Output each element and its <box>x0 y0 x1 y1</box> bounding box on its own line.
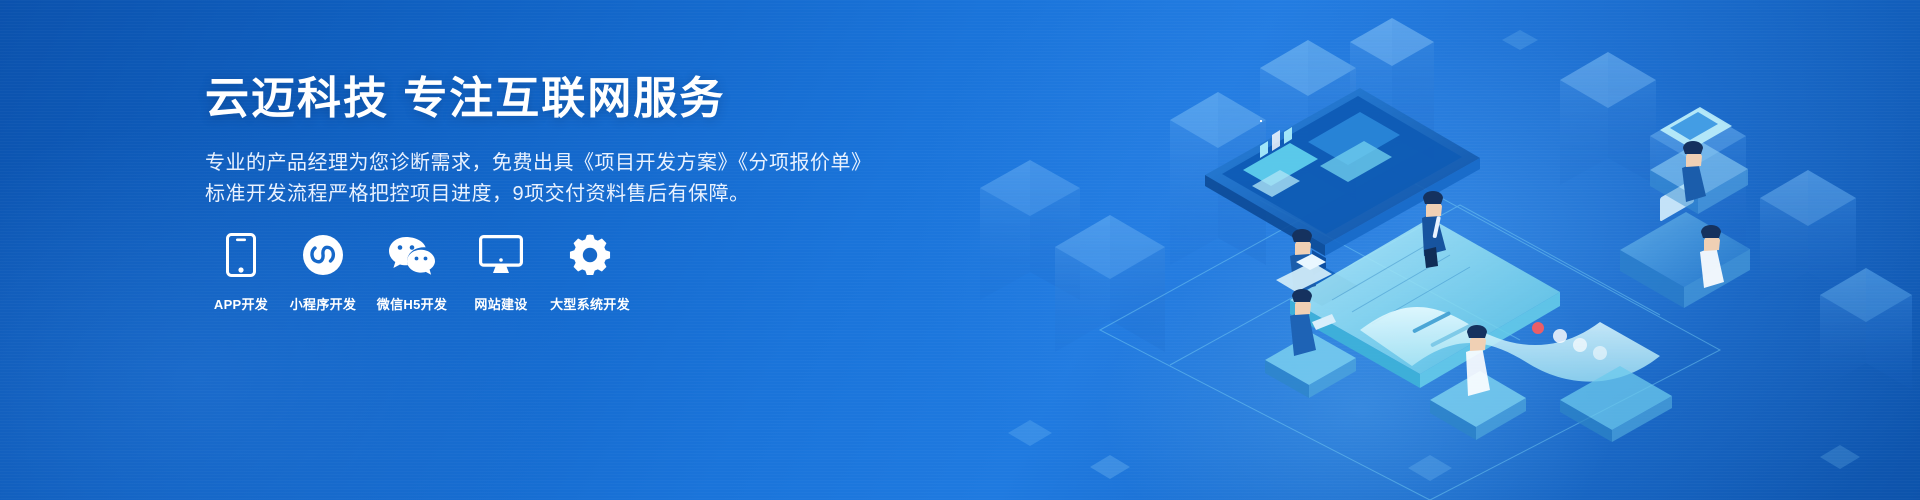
service-label: 大型系统开发 <box>547 294 633 313</box>
wechat-icon <box>369 232 455 278</box>
mini-program-icon <box>287 232 359 278</box>
subtitle-line-1: 专业的产品经理为您诊断需求，免费出具《项目开发方案》《分项报价单》 <box>205 148 965 179</box>
monitor-icon <box>465 232 537 278</box>
subtitle-line-2: 标准开发流程严格把控项目进度，9项交付资料售后有保障。 <box>205 179 965 210</box>
mobile-phone-icon <box>205 232 277 278</box>
banner-content: 云迈科技 专注互联网服务 专业的产品经理为您诊断需求，免费出具《项目开发方案》《… <box>205 72 965 210</box>
page-title: 云迈科技 专注互联网服务 <box>205 72 965 126</box>
service-label: 网站建设 <box>465 294 537 313</box>
service-item-miniprogram[interactable]: 小程序开发 <box>287 232 359 313</box>
subtitle-block: 专业的产品经理为您诊断需求，免费出具《项目开发方案》《分项报价单》 标准开发流程… <box>205 148 965 210</box>
service-label: 小程序开发 <box>287 294 359 313</box>
service-item-system[interactable]: 大型系统开发 <box>547 232 633 313</box>
gear-icon <box>547 232 633 278</box>
service-label: 微信H5开发 <box>369 294 455 313</box>
hero-banner: 云迈科技 专注互联网服务 专业的产品经理为您诊断需求，免费出具《项目开发方案》《… <box>0 0 1920 500</box>
service-item-app[interactable]: APP开发 <box>205 232 277 313</box>
service-item-wechat[interactable]: 微信H5开发 <box>369 232 455 313</box>
isometric-illustration <box>960 0 1920 500</box>
service-item-website[interactable]: 网站建设 <box>465 232 537 313</box>
service-list: APP开发 小程序开发 微信 <box>205 232 633 313</box>
service-label: APP开发 <box>205 294 277 313</box>
